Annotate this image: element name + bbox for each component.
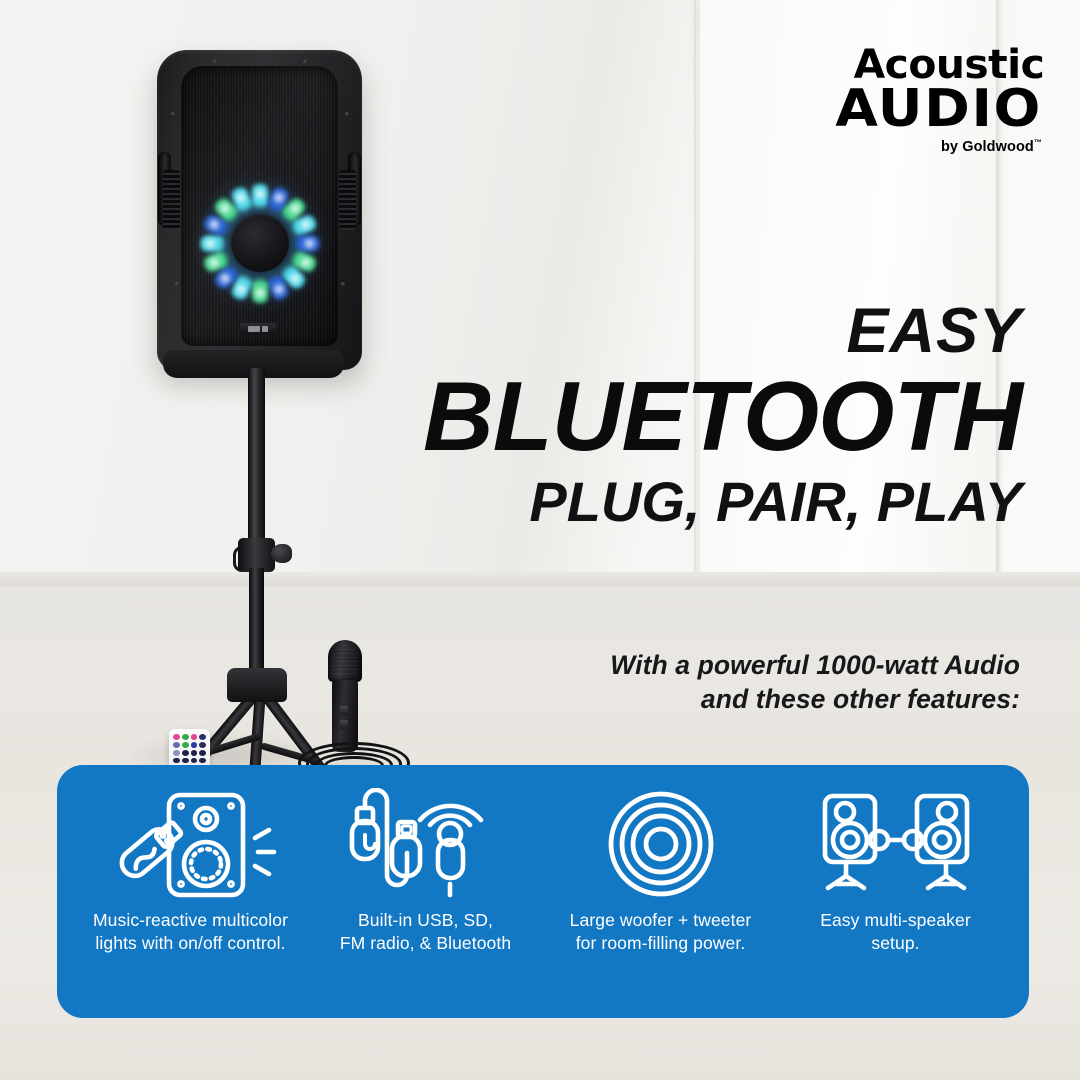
headline-plug-pair-play: PLUG, PAIR, PLAY [322, 471, 1022, 534]
subheadline-block: With a powerful 1000-watt Audio and thes… [460, 648, 1020, 717]
remote-button[interactable] [182, 742, 189, 748]
feature-caption-line-1: Easy multi-speaker [820, 909, 971, 932]
feature-caption-multispeaker: Easy multi-speaker setup. [820, 909, 971, 955]
cabinet-screw [213, 60, 217, 64]
mic-grille-head [328, 640, 362, 682]
remote-button[interactable] [173, 734, 180, 740]
badge-mark-a [248, 326, 260, 332]
speaker-vent-right [339, 170, 356, 230]
brand-logo: Acoustic AUDIO by Goldwood™ [812, 46, 1042, 155]
logo-tagline: by Goldwood™ [812, 138, 1042, 155]
subheadline-line-1: With a powerful 1000-watt Audio [460, 648, 1020, 682]
feature-caption-line-1: Built-in USB, SD, [340, 909, 511, 932]
badge-mark-b [262, 326, 268, 332]
logo-tagline-text: by Goldwood [941, 139, 1034, 155]
remote-button[interactable] [191, 758, 198, 764]
speaker-badge [240, 323, 276, 335]
cabinet-screw [171, 112, 175, 116]
feature-item-connectivity: Built-in USB, SD, FM radio, & Bluetooth [308, 785, 543, 1000]
feature-caption-woofer: Large woofer + tweeter for room-filling … [570, 909, 752, 955]
cabinet-screw [341, 282, 345, 286]
feature-caption-line-2: setup. [820, 932, 971, 955]
led-segment [252, 278, 268, 303]
remote-button[interactable] [182, 734, 189, 740]
stand-height-clamp[interactable] [238, 538, 275, 572]
stand-adjust-knob[interactable] [271, 544, 292, 563]
remote-button[interactable] [173, 750, 180, 756]
poster-canvas: Acoustic AUDIO by Goldwood™ [0, 0, 1080, 1080]
remote-button[interactable] [199, 734, 206, 740]
subheadline-line-2: and these other features: [460, 682, 1020, 716]
two-speakers-linked-icon [813, 785, 979, 903]
feature-caption-line-2: lights with on/off control. [93, 932, 288, 955]
feature-caption-line-2: for room-filling power. [570, 932, 752, 955]
trademark-symbol: ™ [1034, 138, 1042, 147]
feature-caption-line-2: FM radio, & Bluetooth [340, 932, 511, 955]
mic-switch[interactable] [340, 706, 348, 715]
led-segment [295, 236, 320, 252]
remote-button[interactable] [199, 742, 206, 748]
woofer-with-led-ring [195, 178, 325, 308]
feature-item-lights: Music-reactive multicolor lights with on… [73, 785, 308, 1000]
remote-button[interactable] [199, 750, 206, 756]
usb-cable-radio-antenna-icon [340, 785, 512, 903]
headline-easy: EASY [322, 300, 1022, 363]
cabinet-screw [303, 60, 307, 64]
feature-caption-line-1: Music-reactive multicolor [93, 909, 288, 932]
remote-button[interactable] [182, 750, 189, 756]
logo-audio-text: AUDIO [798, 84, 1042, 135]
led-segment [252, 184, 268, 209]
feature-caption-line-1: Large woofer + tweeter [570, 909, 752, 932]
remote-button[interactable] [191, 750, 198, 756]
feature-caption-connectivity: Built-in USB, SD, FM radio, & Bluetooth [340, 909, 511, 955]
feature-panel: Music-reactive multicolor lights with on… [57, 765, 1029, 1018]
feature-caption-lights: Music-reactive multicolor lights with on… [93, 909, 288, 955]
remote-button[interactable] [191, 742, 198, 748]
stand-lower-pole [249, 568, 264, 678]
remote-button[interactable] [199, 758, 206, 764]
speaker-vent-left [163, 170, 180, 230]
cabinet-screw [175, 282, 179, 286]
woofer-dust-cap [231, 214, 289, 272]
feature-item-woofer: Large woofer + tweeter for room-filling … [543, 785, 778, 1000]
remote-button[interactable] [191, 734, 198, 740]
feature-item-multispeaker: Easy multi-speaker setup. [778, 785, 1013, 1000]
stand-leg-hub [227, 668, 287, 702]
cabinet-screw [345, 112, 349, 116]
led-segment [201, 236, 226, 252]
usb-speaker-lights-icon [103, 785, 279, 903]
remote-button[interactable] [173, 758, 180, 764]
remote-button[interactable] [173, 742, 180, 748]
remote-button[interactable] [182, 758, 189, 764]
woofer-rings-icon [605, 785, 717, 903]
mic-switch[interactable] [340, 720, 348, 729]
headline-block: EASY BLUETOOTH PLUG, PAIR, PLAY [322, 300, 1022, 534]
headline-bluetooth: BLUETOOTH [322, 365, 1022, 469]
